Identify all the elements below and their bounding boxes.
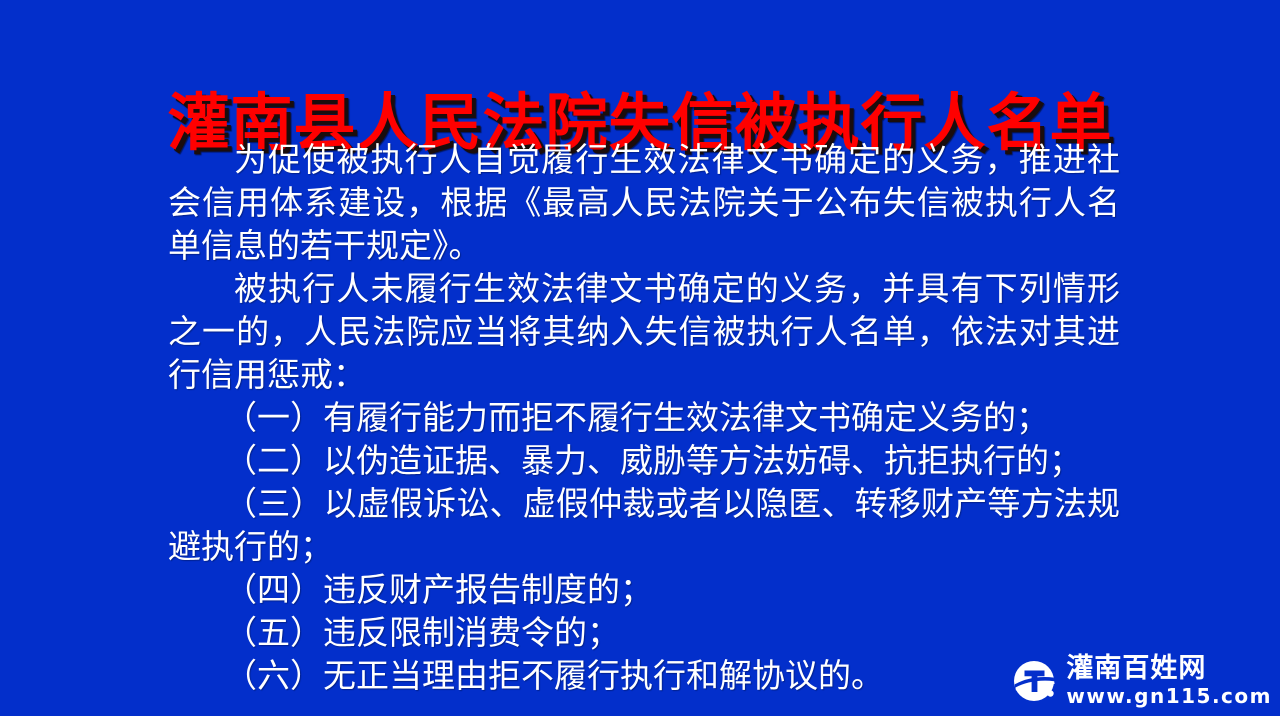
watermark-text-group: 灌南百姓网 www.gn115.com (1066, 655, 1272, 706)
list-item: （五）违反限制消费令的； (168, 613, 1120, 656)
list-item: （六）无正当理由拒不履行执行和解协议的。 (168, 656, 1120, 699)
paragraph-purpose: 为促使被执行人自觉履行生效法律文书确定的义务，推进社会信用体系建设，根据《最高人… (168, 140, 1120, 269)
paragraph-conditions-intro: 被执行人未履行生效法律文书确定的义务，并具有下列情形之一的，人民法院应当将其纳入… (168, 269, 1120, 398)
slide-canvas: 灌南县人民法院失信被执行人名单 为促使被执行人自觉履行生效法律文书确定的义务，推… (0, 0, 1280, 716)
watermark-site-url: www.gn115.com (1066, 686, 1272, 706)
globe-t-logo-icon (1011, 658, 1057, 704)
list-item: （一）有履行能力而拒不履行生效法律文书确定义务的； (168, 398, 1120, 441)
list-item: （二）以伪造证据、暴力、威胁等方法妨碍、抗拒执行的； (168, 441, 1120, 484)
list-item: （四）违反财产报告制度的； (168, 570, 1120, 613)
watermark-site-name: 灌南百姓网 (1066, 655, 1206, 682)
body-content: 为促使被执行人自觉履行生效法律文书确定的义务，推进社会信用体系建设，根据《最高人… (168, 140, 1120, 699)
site-watermark: 灌南百姓网 www.gn115.com (1011, 655, 1272, 706)
list-item: （三）以虚假诉讼、虚假仲裁或者以隐匿、转移财产等方法规避执行的； (168, 484, 1120, 570)
